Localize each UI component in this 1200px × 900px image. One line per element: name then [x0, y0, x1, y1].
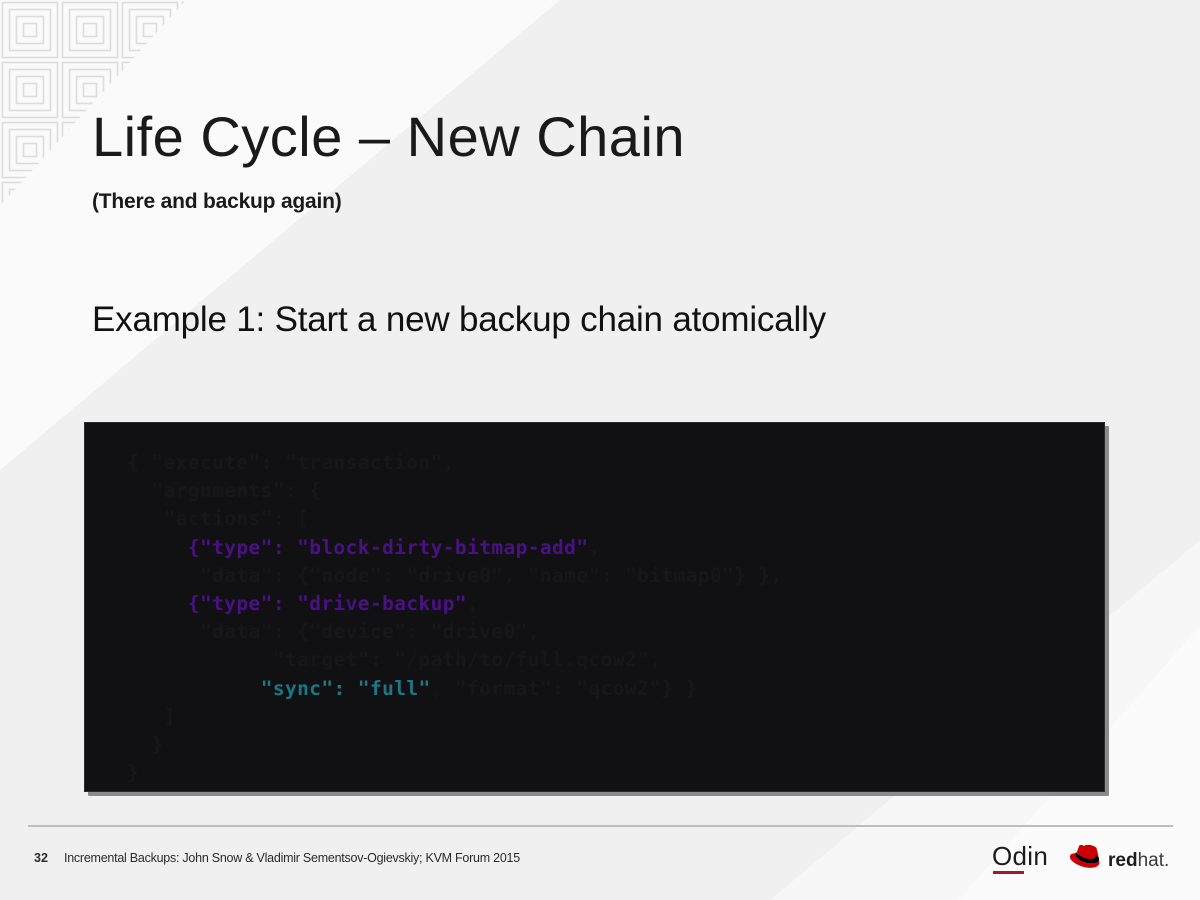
code-line: "data": {"node": "drive0", "name": "bitm… — [115, 564, 783, 587]
code-line: "data": {"device": "drive0", — [115, 620, 540, 643]
odin-logo: Odin — [992, 843, 1054, 877]
code-line: "arguments": { — [115, 479, 321, 502]
code-line: {"type": "block-dirty-bitmap-add", — [115, 536, 601, 559]
code-line: } — [115, 761, 139, 784]
redhat-logo: redhat. — [1070, 845, 1169, 876]
code-token: { "execute": "transaction", — [127, 451, 455, 474]
code-token: "target": "/path/to/full.qcow2", — [273, 648, 661, 671]
slide-title: Life Cycle – New Chain — [92, 108, 685, 167]
code-token: "actions": [ — [164, 507, 310, 530]
code-token: ] — [164, 705, 176, 728]
code-content: { "execute": "transaction", "arguments":… — [115, 449, 1104, 787]
footer-page-number: 32 — [34, 851, 48, 865]
redhat-word-hat: hat. — [1138, 850, 1170, 871]
code-line: } — [115, 733, 164, 756]
code-token: "sync": "full" — [261, 677, 431, 700]
slide-subtitle: (There and backup again) — [92, 190, 342, 214]
code-line: ] — [115, 705, 176, 728]
odin-logo-underline — [993, 871, 1024, 874]
presentation-slide: Life Cycle – New Chain (There and backup… — [0, 0, 1200, 900]
code-token: , — [467, 592, 479, 615]
footer-attribution: Incremental Backups: John Snow & Vladimi… — [64, 851, 520, 865]
code-line: {"type": "drive-backup", — [115, 592, 479, 615]
code-line: "sync": "full", "format": "qcow2"} } — [115, 677, 698, 700]
redhat-shadowman-icon — [1070, 845, 1104, 876]
code-token: "data": {"node": "drive0", "name": "bitm… — [200, 564, 783, 587]
code-token: , "format": "qcow2"} } — [431, 677, 698, 700]
code-token: "data": {"device": "drive0", — [200, 620, 540, 643]
code-line: "target": "/path/to/full.qcow2", — [115, 648, 661, 671]
odin-logo-wordmark: Odin — [992, 843, 1054, 869]
redhat-wordmark: redhat. — [1108, 851, 1169, 870]
redhat-word-red: red — [1108, 850, 1138, 871]
code-token: , — [588, 536, 600, 559]
code-token: } — [151, 733, 163, 756]
code-line: { "execute": "transaction", — [115, 451, 455, 474]
body-heading: Example 1: Start a new backup chain atom… — [92, 300, 826, 340]
footer-divider — [28, 825, 1173, 827]
code-token: {"type": "block-dirty-bitmap-add" — [188, 536, 589, 559]
background-wash-top-left — [0, 0, 560, 470]
code-token: } — [127, 761, 139, 784]
code-token: "arguments": { — [151, 479, 321, 502]
code-token: {"type": "drive-backup" — [188, 592, 467, 615]
code-block: { "execute": "transaction", "arguments":… — [84, 422, 1105, 792]
code-line: "actions": [ — [115, 507, 309, 530]
